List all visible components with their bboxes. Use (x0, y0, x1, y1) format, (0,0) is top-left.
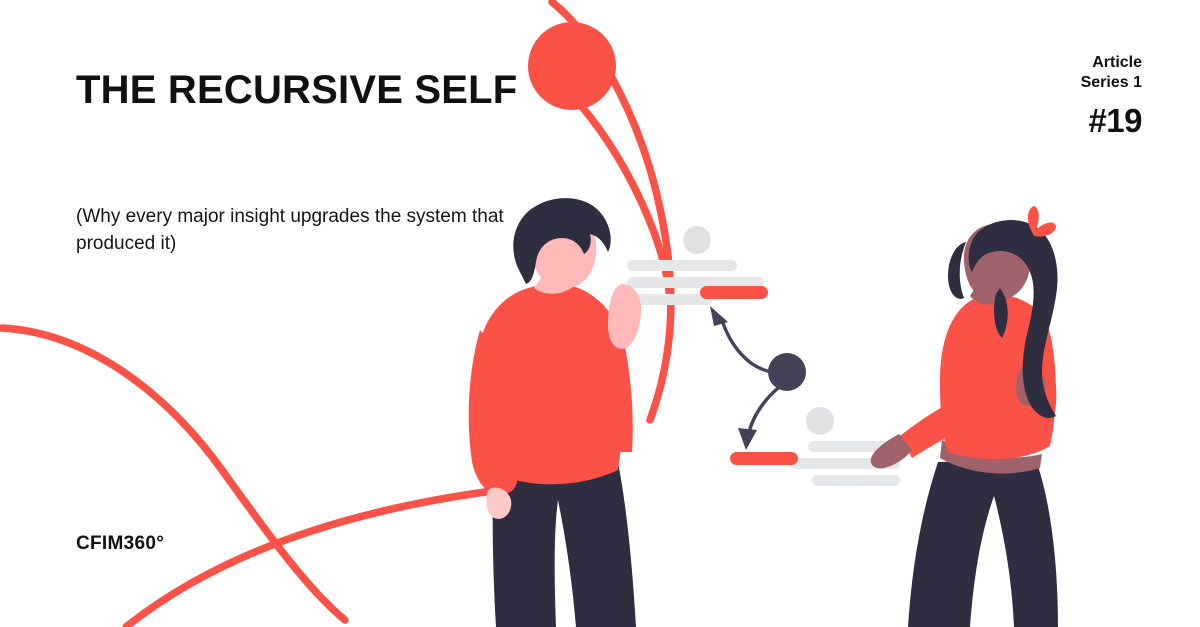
red-curve-descending (2, 328, 345, 620)
woman-trousers (908, 460, 1058, 627)
man-hand-raised (608, 284, 641, 349)
card-avatar-circle (806, 407, 834, 435)
feedback-arrow-down-head (738, 428, 757, 450)
woman-hair-bow (1028, 206, 1056, 237)
man-figure (469, 198, 641, 627)
page-subtitle: (Why every major insight upgrades the sy… (76, 204, 506, 258)
card-bar-1 (627, 260, 737, 271)
card-bar-3 (812, 475, 900, 486)
feedback-arrow-up-shaft (722, 320, 772, 372)
card-highlight-bar (730, 452, 798, 465)
recursion-node (768, 353, 806, 391)
feedback-arrow-down-shaft (748, 388, 778, 436)
card-avatar-circle (683, 226, 711, 254)
woman-hair-fringe (948, 242, 966, 299)
upper-content-card (627, 226, 768, 305)
recursion-feedback-group (710, 306, 806, 450)
woman-figure (871, 206, 1058, 627)
brand-logo: CFIM360° (76, 533, 164, 555)
decorative-curves (2, 328, 500, 627)
card-highlight-bar (700, 286, 768, 299)
series-label: Article Series 1 (922, 53, 1142, 94)
page-title: THE RECURSIVE SELF (76, 66, 546, 115)
feedback-arrow-up-head (710, 306, 728, 326)
series-badge: Article Series 1 #19 (922, 53, 1142, 137)
issue-number: #19 (922, 104, 1142, 137)
article-banner: THE RECURSIVE SELF (Why every major insi… (0, 0, 1200, 627)
red-curve-ascending (126, 490, 500, 627)
